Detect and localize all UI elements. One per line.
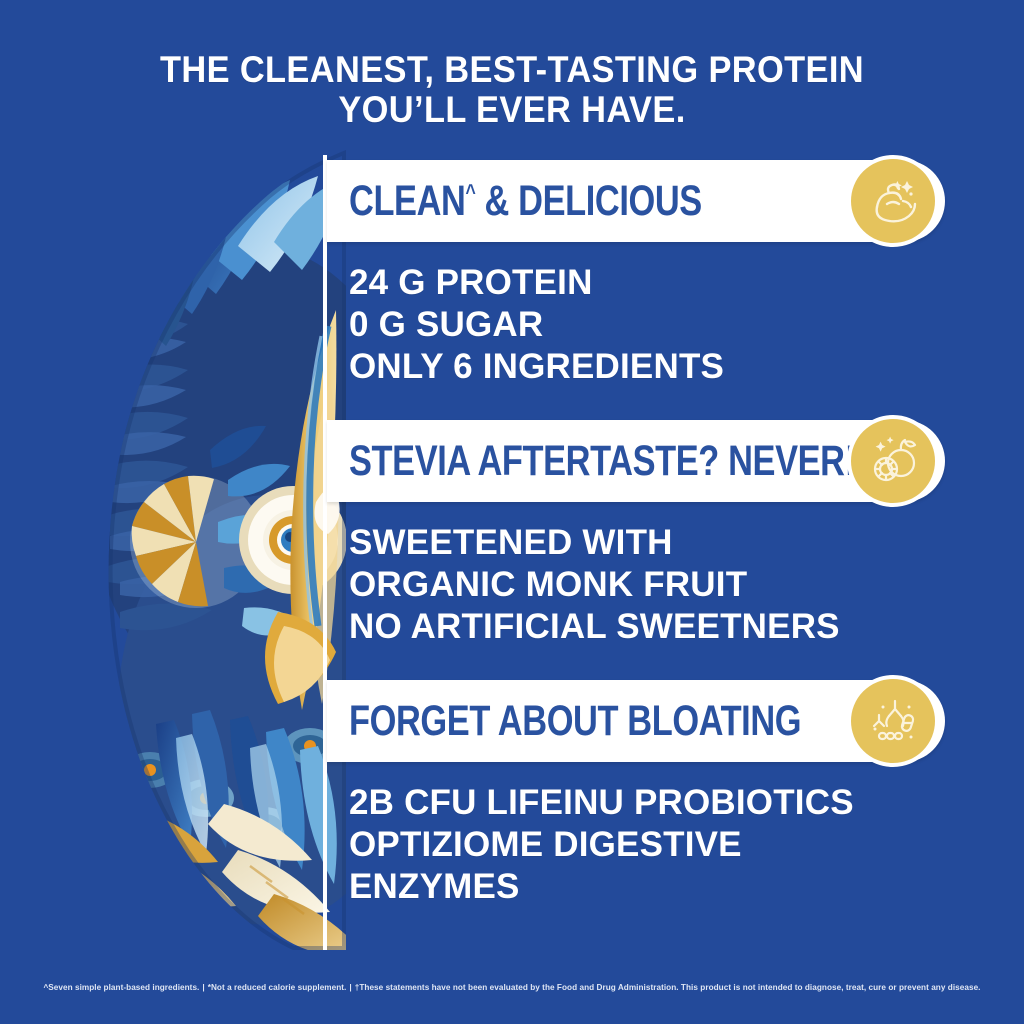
probiotics-icon [847,675,939,767]
disclaimer-note-2: *Not a reduced calorie supplement. [208,983,347,992]
feature-title-text: STEVIA AFTERTASTE? NEVER! [349,437,856,485]
infographic-canvas: THE CLEANEST, BEST-TASTING PROTEIN YOU’L… [0,0,1024,1024]
flexed-bicep-icon [847,155,939,247]
disclaimer-note-3: †These statements have not been evaluate… [355,983,981,992]
footer-disclaimer: ^Seven simple plant-based ingredients.|*… [0,983,1024,992]
feature-title-text: CLEAN [349,177,465,225]
body-line: 0 G SUGAR [349,304,967,346]
headline-line-2: YOU’LL EVER HAVE. [94,90,931,130]
feature-list: CLEAN^ & DELICIOUS 24 G PROTEIN 0 G SUGA… [327,160,967,924]
monk-fruit-icon [847,415,939,507]
feature-title-rest: & DELICIOUS [475,177,701,225]
feature-body-clean-delicious: 24 G PROTEIN 0 G SUGAR ONLY 6 INGREDIENT… [327,242,967,404]
body-line: ONLY 6 INGREDIENTS [349,346,967,388]
feature-body-stevia-aftertaste: SWEETENED WITH ORGANIC MONK FRUIT NO ART… [327,502,967,664]
headline-line-1: THE CLEANEST, BEST-TASTING PROTEIN [160,49,864,90]
feature-body-forget-bloating: 2B CFU LIFEINU PROBIOTICS OPTIZIOME DIGE… [327,762,967,924]
feature-banner-stevia-aftertaste: STEVIA AFTERTASTE? NEVER! [327,420,945,502]
disclaimer-note-1: ^Seven simple plant-based ingredients. [43,983,199,992]
body-line: SWEETENED WITH [349,522,967,564]
body-line: 24 G PROTEIN [349,262,967,304]
feature-title-text: FORGET ABOUT BLOATING [349,697,801,745]
feature-title: STEVIA AFTERTASTE? NEVER! [349,440,856,483]
paper-craft-owl-illustration [78,150,346,950]
body-line: ENZYMES [349,866,967,908]
feature-title: FORGET ABOUT BLOATING [349,700,801,743]
feature-title: CLEAN^ & DELICIOUS [349,180,702,223]
footnote-marker: ^ [465,179,475,204]
feature-banner-forget-bloating: FORGET ABOUT BLOATING [327,680,945,762]
body-line: NO ARTIFICIAL SWEETNERS [349,606,967,648]
disclaimer-separator: | [199,983,207,992]
disclaimer-separator: | [346,983,354,992]
feature-banner-clean-delicious: CLEAN^ & DELICIOUS [327,160,945,242]
body-line: OPTIZIOME DIGESTIVE [349,824,967,866]
body-line: ORGANIC MONK FRUIT [349,564,967,606]
body-line: 2B CFU LIFEINU PROBIOTICS [349,782,967,824]
page-title: THE CLEANEST, BEST-TASTING PROTEIN YOU’L… [94,50,931,130]
